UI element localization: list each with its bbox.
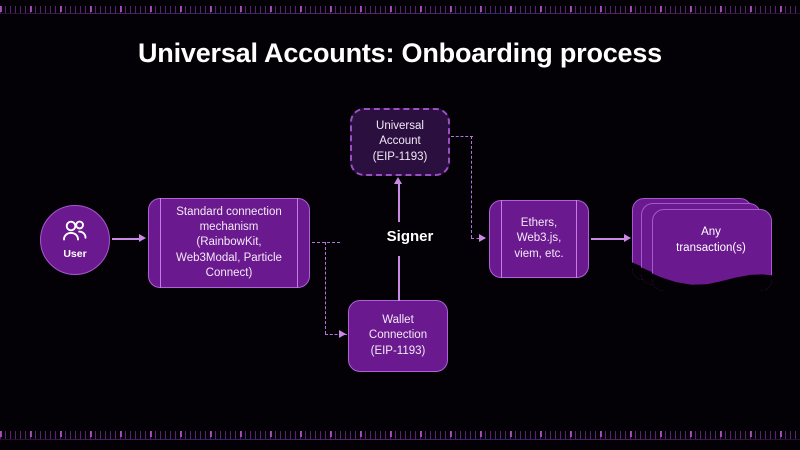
connector-line: [112, 238, 140, 240]
bottom-decorative-strip: [0, 428, 800, 442]
top-tick-baseline: [0, 13, 800, 14]
connector-arrowhead: [339, 330, 346, 338]
node-universal-account[interactable]: Universal Account (EIP-1193): [350, 108, 450, 176]
node-wallet-connection-label: Wallet Connection (EIP-1193): [369, 313, 427, 359]
users-icon: [62, 220, 88, 247]
node-transactions[interactable]: Any transaction(s): [632, 198, 772, 290]
node-standard-connection-label: Standard connection mechanism (RainbowKi…: [167, 205, 291, 281]
connector-arrowhead: [479, 234, 486, 242]
node-libraries[interactable]: Ethers, Web3.js, viem, etc.: [489, 200, 589, 278]
node-user[interactable]: User: [40, 205, 110, 275]
connector-segment-v: [325, 242, 326, 334]
bottom-tick-marks-tall: [0, 431, 800, 437]
node-user-label: User: [63, 248, 86, 260]
node-standard-connection[interactable]: Standard connection mechanism (RainbowKi…: [148, 198, 310, 288]
label-signer: Signer: [340, 228, 480, 245]
node-universal-account-label: Universal Account (EIP-1193): [373, 119, 428, 165]
node-wallet-connection[interactable]: Wallet Connection (EIP-1193): [348, 300, 448, 372]
top-decorative-strip: [0, 4, 800, 18]
connector-arrowhead: [139, 234, 146, 242]
connector-arrowhead: [624, 234, 631, 242]
connector-segment-v: [471, 136, 472, 238]
top-tick-marks-tall: [0, 6, 800, 12]
connector-segment-h1: [451, 136, 473, 137]
node-transactions-label: Any transaction(s): [652, 209, 770, 273]
page-title: Universal Accounts: Onboarding process: [0, 38, 800, 69]
label-signer-text: Signer: [387, 228, 434, 245]
connector-arrowhead: [394, 177, 402, 184]
connector-line: [591, 238, 625, 240]
connector-segment-h1: [312, 242, 340, 243]
slide-canvas: Universal Accounts: Onboarding process U…: [0, 0, 800, 450]
bottom-tick-baseline: [0, 439, 800, 440]
node-libraries-label: Ethers, Web3.js, viem, etc.: [514, 216, 563, 262]
